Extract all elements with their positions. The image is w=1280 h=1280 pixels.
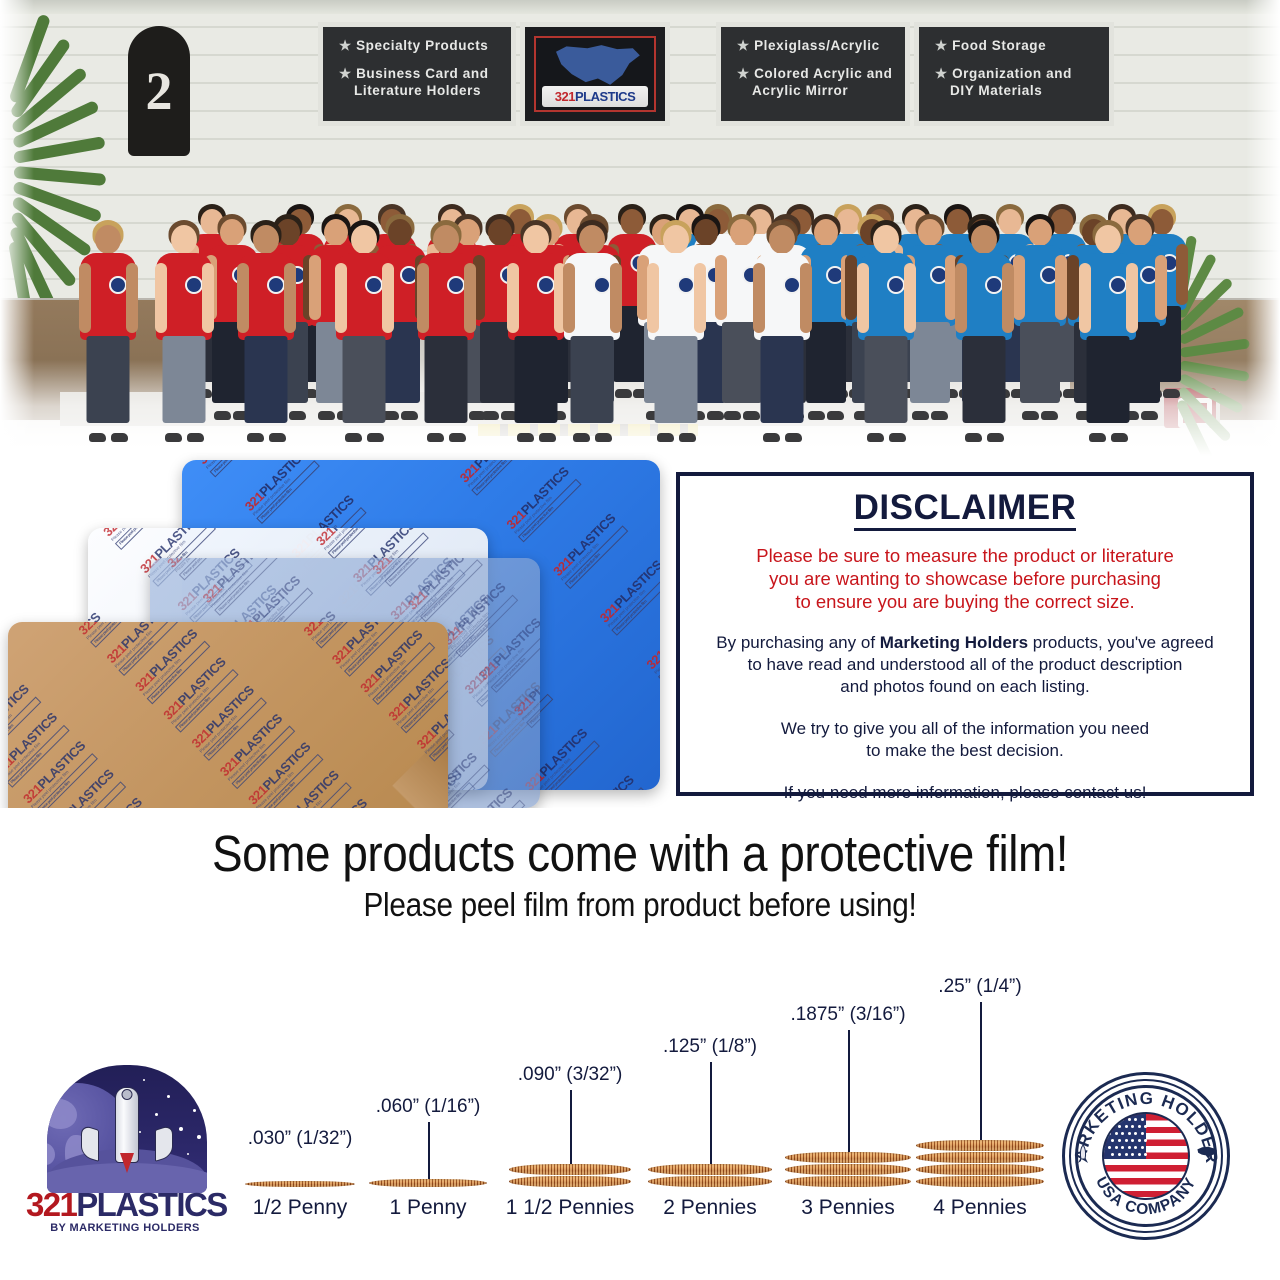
film-watermark: 321PLASTICSPlease peel protective filmPl… (302, 796, 380, 808)
penny-stack (648, 1164, 772, 1188)
shirt-logo (783, 276, 801, 294)
shirt-logo (1109, 276, 1127, 294)
logo-num: 321 (26, 1186, 76, 1223)
shirt-logo (985, 276, 1003, 294)
shoe-right (1041, 411, 1058, 420)
penny-measurement-label: .125” (1/8”) (663, 1036, 757, 1058)
shirt-logo (593, 276, 611, 294)
arm-right (610, 263, 622, 333)
shoe-right (931, 411, 948, 420)
lower-body (655, 336, 698, 423)
staff-member (952, 222, 1017, 442)
photo-right-fade (1246, 0, 1280, 456)
face (1095, 225, 1121, 254)
shoe-right (367, 433, 384, 442)
shirt-logo (677, 276, 695, 294)
arm-left (309, 255, 321, 320)
staff-member (1010, 216, 1070, 420)
logo-word: PLASTICS (76, 1186, 226, 1223)
lower-body (515, 336, 558, 423)
film-watermark: 321PLASTICSPlease peel protective filmPl… (386, 656, 448, 734)
sign-line: Business Card and (356, 66, 488, 81)
sign-line: Literature Holders (339, 82, 511, 99)
warning-line: you are wanting to showcase before purch… (702, 567, 1228, 590)
film-watermark: 321PLASTICSPlease peel protective filmPl… (644, 604, 660, 682)
staff-member (750, 222, 815, 442)
penny-category-label: 1 Penny (389, 1196, 466, 1220)
face (253, 225, 279, 254)
film-watermark: 321PLASTICSPlease peel protective filmPl… (370, 558, 448, 587)
disclaimer-title: DISCLAIMER (854, 490, 1077, 531)
penny-measurement-label: .25” (1/4”) (938, 976, 1021, 998)
team-group-photo: ★ Specialty Products ★ Business Card and… (0, 0, 1280, 456)
shoe-right (269, 433, 286, 442)
penny-leader-line (710, 1062, 712, 1164)
shirt-logo (447, 276, 465, 294)
photo-scene: ★ Specialty Products ★ Business Card and… (0, 0, 1280, 456)
film-watermark: 321PLASTICSPlease peel protective filmPl… (49, 767, 127, 808)
continent-shape (44, 1143, 55, 1165)
arm-left (79, 263, 91, 333)
penny-leader-line (570, 1090, 572, 1164)
staff-member (644, 222, 709, 442)
shoe-right (1111, 433, 1128, 442)
film-watermark: 321PLASTICSPlease peel protective filmPl… (132, 626, 210, 704)
shirt-logo (887, 276, 905, 294)
arm-left (955, 263, 967, 333)
sign-line: Acrylic Mirror (737, 82, 905, 99)
photo-left-fade (0, 0, 34, 456)
lower-body (1087, 336, 1130, 423)
penny-leader-line (428, 1122, 430, 1179)
film-watermark: 321PLASTICSPlease peel protective filmPl… (77, 795, 155, 808)
penny-category-label: 3 Pennies (801, 1196, 894, 1220)
protective-film-product-image: 321PLASTICSPlease peel protective filmPl… (0, 452, 672, 808)
agreement-post: products, you've agreed (1028, 633, 1214, 652)
arm-left (857, 263, 869, 333)
penny-measurement-label: .090” (3/32”) (518, 1064, 623, 1086)
penny-measurement-label: .030” (1/32”) (248, 1128, 353, 1150)
sign-line: Colored Acrylic and (754, 66, 892, 81)
film-watermark: 321PLASTICSPlease peel protective filmPl… (195, 460, 273, 477)
shoe-right (449, 433, 466, 442)
shoe-left (165, 433, 182, 442)
disclaimer-agreement-text: By purchasing any of Marketing Holders p… (702, 632, 1228, 698)
sign-line: Plexiglass/Acrylic (754, 38, 880, 53)
shirt-logo (365, 276, 383, 294)
arm-right (382, 263, 394, 333)
arm-right (904, 263, 916, 333)
arm-right (202, 263, 214, 333)
face (171, 225, 197, 254)
shoe-left (724, 411, 741, 420)
building-number-plaque (128, 26, 190, 156)
penny-coin (916, 1140, 1044, 1151)
film-watermark: 321PLASTICSPlease peel protective filmPl… (329, 622, 407, 677)
film-watermark: 321PLASTICSPlease peel protective filmPl… (358, 628, 436, 706)
arm-left (1079, 263, 1091, 333)
logo-321-plastics: 321PLASTICS BY MARKETING HOLDERS (26, 1062, 224, 1242)
face (351, 225, 377, 254)
penny-coin (648, 1164, 772, 1175)
arm-left (335, 263, 347, 333)
storefront-map-poster: 321PLASTICS (520, 22, 670, 126)
film-watermark-layer: 321PLASTICSPlease peel protective filmPl… (8, 622, 448, 808)
shirt-logo (537, 276, 555, 294)
shirt-logo (185, 276, 203, 294)
brand-name: Marketing Holders (880, 633, 1028, 652)
face (579, 225, 605, 254)
penny-category-label: 1/2 Penny (253, 1196, 348, 1220)
poster-logo-num: 321 (555, 90, 575, 103)
penny-coin (648, 1176, 772, 1187)
film-watermark: 321PLASTICSPlease peel protective filmPl… (314, 528, 392, 559)
logo-tagline: BY MARKETING HOLDERS (26, 1222, 224, 1234)
storefront-sign-plexiglass: ★ Plexiglass/Acrylic ★ Colored Acrylic a… (716, 22, 910, 126)
staff-member (332, 222, 397, 442)
face (523, 225, 549, 254)
sign-line: Specialty Products (356, 38, 488, 53)
staff-member (560, 222, 625, 442)
staff-member (1076, 222, 1141, 442)
film-watermark: 321PLASTICSPlease peel protective filmPl… (597, 558, 660, 636)
lower-body (425, 336, 468, 423)
info-line: to make the best decision. (702, 740, 1228, 762)
sign-line: Food Storage (952, 38, 1046, 53)
film-watermark: 321PLASTICSPlease peel protective filmPl… (101, 528, 179, 550)
shoe-left (1089, 433, 1106, 442)
lower-body (571, 336, 614, 423)
film-watermark: 321PLASTICSPlease peel protective filmPl… (550, 511, 628, 589)
logo-wordmark: 321PLASTICS (26, 1188, 224, 1221)
shoe-left (214, 411, 231, 420)
continent-shape (44, 1099, 77, 1129)
lower-body (761, 336, 804, 423)
usa-flag-icon (1102, 1112, 1190, 1200)
shoe-left (965, 433, 982, 442)
film-watermark: 321PLASTICSPlease peel protective filmPl… (476, 615, 540, 693)
film-watermark: 321PLASTICSPlease peel protective filmPl… (165, 558, 243, 581)
penny-coin (916, 1176, 1044, 1187)
shoe-left (657, 433, 674, 442)
film-watermark: 321PLASTICSPlease peel protective filmPl… (274, 768, 352, 808)
penny-category-label: 1 1/2 Pennies (506, 1196, 634, 1220)
shoe-left (427, 433, 444, 442)
film-watermark: 321PLASTICSPlease peel protective filmPl… (8, 710, 70, 788)
poster-logo-word: PLASTICS (575, 90, 635, 103)
lower-body (1020, 322, 1060, 403)
storefront-sign-foodstorage: ★ Food Storage ★ Organization and DIY Ma… (914, 22, 1114, 126)
arm-left (417, 263, 429, 333)
penny-coin (369, 1179, 487, 1187)
shoe-left (1022, 411, 1039, 420)
face (971, 225, 997, 254)
film-watermark: 321PLASTICSPlease peel protective filmPl… (457, 460, 535, 496)
film-watermark: 321PLASTICSPlease peel protective filmPl… (246, 740, 324, 808)
arm-right (1176, 244, 1188, 305)
headline-main: Some products come with a protective fil… (64, 824, 1216, 883)
film-watermark: 321PLASTICSPlease peel protective filmPl… (20, 738, 98, 808)
sign-line: DIY Materials (935, 82, 1109, 99)
agreement-line: to have read and understood all of the p… (702, 654, 1228, 676)
arm-left (563, 263, 575, 333)
kraft-paper-sheet: 321PLASTICSPlease peel protective filmPl… (8, 622, 448, 808)
shoe-right (111, 433, 128, 442)
film-watermark: 321PLASTICSPlease peel protective filmPl… (217, 711, 295, 789)
shoe-right (539, 433, 556, 442)
usa-map-shape (553, 44, 640, 89)
face (663, 225, 689, 254)
staff-member (152, 222, 217, 442)
film-watermark: 321PLASTICSPlease peel protective filmPl… (569, 773, 647, 790)
disclaimer-contact-text: If you need more information, please con… (702, 782, 1228, 804)
sign-line: Organization and (952, 66, 1072, 81)
face (918, 219, 942, 246)
logo-emblem (44, 1062, 210, 1196)
penny-category-label: 2 Pennies (663, 1196, 756, 1220)
lower-body (963, 336, 1006, 423)
arm-right (1155, 255, 1167, 320)
shoe-right (987, 433, 1004, 442)
storefront-sign-specialty: ★ Specialty Products ★ Business Card and… (318, 22, 516, 126)
arm-left (753, 263, 765, 333)
arm-left (647, 263, 659, 333)
flag-canton (1104, 1114, 1146, 1159)
film-watermark: 321PLASTICSPlease peel protective filmPl… (104, 622, 182, 676)
shoe-right (187, 433, 204, 442)
arm-left (715, 255, 727, 320)
arm-right (284, 263, 296, 333)
arm-right (1126, 263, 1138, 333)
film-watermark: 321PLASTICSPlease peel protective filmPl… (200, 558, 278, 616)
film-watermark: 321PLASTICSPlease peel protective filmPl… (441, 580, 519, 658)
peeling-corner (356, 730, 448, 808)
penny-chart-item: 4 Pennies.25” (1/4”) (890, 960, 1070, 1220)
film-watermark: 321PLASTICSPlease peel protective filmPl… (242, 460, 320, 524)
film-watermark: 321PLASTICSPlease peel protective filmPl… (8, 682, 42, 760)
staff-member (414, 222, 479, 442)
film-watermark: 321PLASTICSPlease peel protective filmPl… (511, 651, 540, 729)
penny-stack (916, 1140, 1044, 1188)
shoe-right (1141, 411, 1158, 420)
arm-right (1002, 263, 1014, 333)
warning-line: to ensure you are buying the correct siz… (702, 590, 1228, 613)
disclaimer-info-text: We try to give you all of the informatio… (702, 718, 1228, 762)
arm-left (237, 263, 249, 333)
penny-coin (509, 1164, 631, 1175)
agreement-line: and photos found on each listing. (702, 676, 1228, 698)
shoe-left (89, 433, 106, 442)
penny-leader-line (848, 1030, 850, 1152)
shoe-left (763, 433, 780, 442)
shoe-left (517, 433, 534, 442)
film-watermark: 321PLASTICSPlease peel protective filmPl… (504, 464, 582, 542)
face (1028, 219, 1052, 246)
penny-leader-line (980, 1002, 982, 1140)
staff-member (76, 222, 141, 442)
usa-map-poster: 321PLASTICS (534, 36, 656, 112)
film-watermark: 321PLASTICSPlease peel protective filmPl… (161, 655, 239, 733)
staff-member (234, 222, 299, 442)
headline-sub: Please peel film from product before usi… (64, 886, 1216, 924)
lower-body (343, 336, 386, 423)
mini-rocket-icon (1076, 1144, 1090, 1164)
poster-logo: 321PLASTICS (542, 86, 648, 108)
penny-stack (369, 1179, 487, 1188)
disclaimer-box: DISCLAIMER Please be sure to measure the… (676, 472, 1254, 796)
lower-body (87, 336, 130, 423)
marketing-holders-badge: MARKETING HOLDERS USA COMPANY (1062, 1072, 1230, 1240)
film-watermark: 321PLASTICSPlease peel protective filmPl… (447, 785, 525, 808)
penny-measurement-label: .060” (1/16”) (376, 1096, 481, 1118)
agreement-line: By purchasing any of Marketing Holders p… (702, 632, 1228, 654)
disclaimer-warning-text: Please be sure to measure the product or… (702, 544, 1228, 613)
lower-body (245, 336, 288, 423)
face (769, 225, 795, 254)
arm-right (800, 263, 812, 333)
shoe-right (679, 433, 696, 442)
shoe-left (867, 433, 884, 442)
shoe-right (889, 433, 906, 442)
rocket-window (122, 1089, 133, 1100)
shirt-logo (109, 276, 127, 294)
wall-trim (0, 0, 1280, 14)
warning-line: Please be sure to measure the product or… (702, 544, 1228, 567)
penny-stack (509, 1164, 631, 1188)
shoe-left (482, 411, 499, 420)
penny-category-label: 4 Pennies (933, 1196, 1026, 1220)
face (433, 225, 459, 254)
penny-coin (509, 1176, 631, 1187)
lower-body (865, 336, 908, 423)
arm-right (694, 263, 706, 333)
arm-right (126, 263, 138, 333)
info-line: We try to give you all of the informatio… (702, 718, 1228, 740)
lower-body (163, 336, 206, 423)
arm-left (507, 263, 519, 333)
arm-left (155, 263, 167, 333)
staff-member (854, 222, 919, 442)
arm-right (464, 263, 476, 333)
penny-coin (916, 1164, 1044, 1175)
penny-measurement-label: .1875” (3/16”) (790, 1004, 905, 1026)
penny-coin (916, 1152, 1044, 1163)
film-watermark: 321PLASTICSPlease peel protective filmPl… (76, 622, 154, 648)
shoe-left (573, 433, 590, 442)
face (814, 219, 838, 246)
film-watermark: 321PLASTICSPlease peel protective filmPl… (301, 622, 379, 649)
shoe-right (595, 433, 612, 442)
film-watermark: 321PLASTICSPlease peel protective filmPl… (189, 683, 267, 761)
shirt-logo (267, 276, 285, 294)
face (95, 225, 121, 254)
shoe-left (247, 433, 264, 442)
shoe-left (345, 433, 362, 442)
film-watermark: 321PLASTICSPlease peel protective filmPl… (405, 558, 483, 623)
agreement-pre: By purchasing any of (716, 633, 879, 652)
shoe-right (785, 433, 802, 442)
face (873, 225, 899, 254)
